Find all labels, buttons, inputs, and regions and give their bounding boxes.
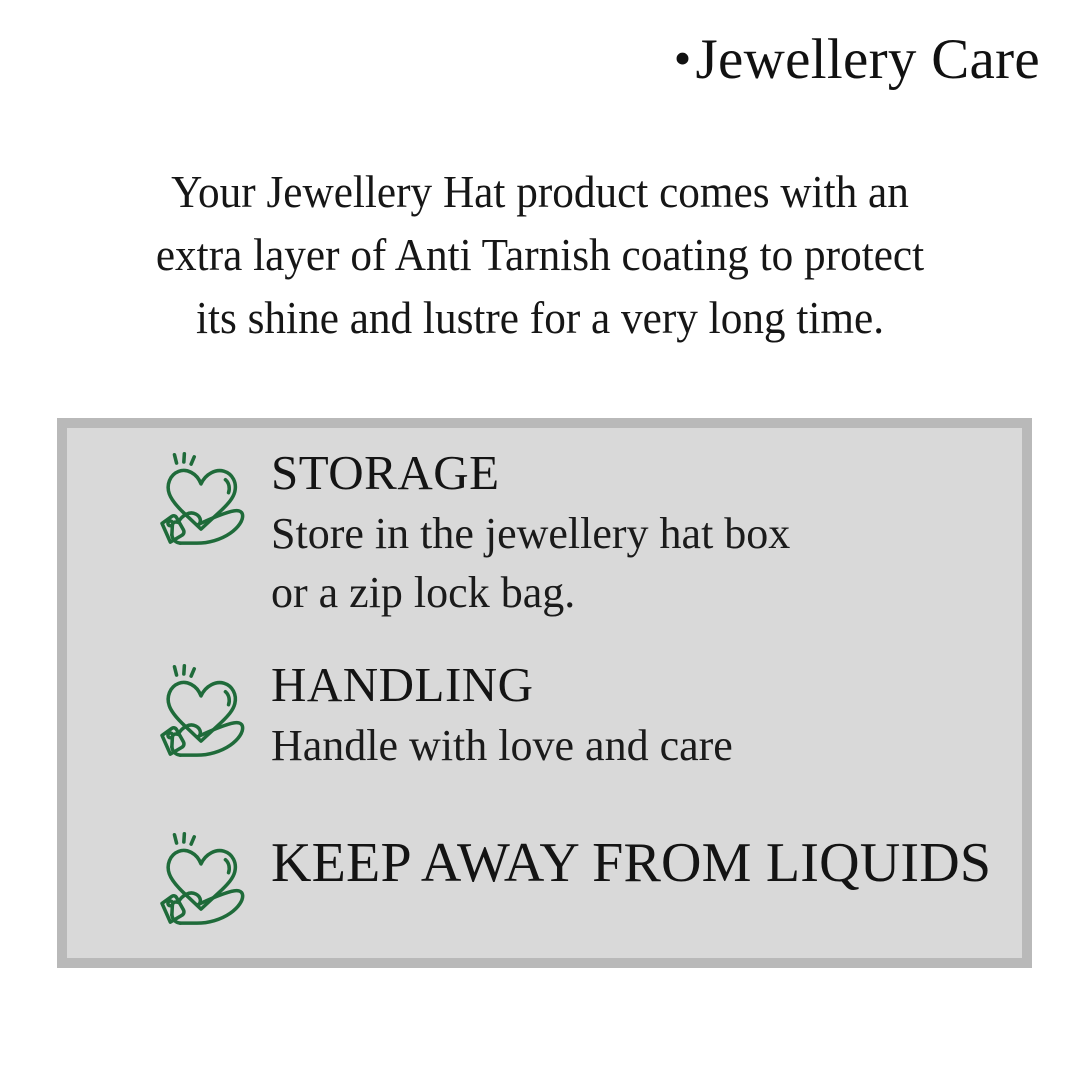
care-text-handling: HANDLING Handle with love and care — [271, 656, 733, 775]
care-text-storage: STORAGE Store in the jewellery hat box o… — [271, 444, 790, 622]
intro-line-3: its shine and lustre for a very long tim… — [89, 286, 991, 349]
intro-paragraph: Your Jewellery Hat product comes with an… — [89, 160, 991, 349]
care-body-handling: Handle with love and care — [271, 716, 733, 775]
care-instructions-panel: STORAGE Store in the jewellery hat box o… — [57, 418, 1032, 968]
care-body-line: Store in the jewellery hat box — [271, 504, 790, 563]
care-body-line: or a zip lock bag. — [271, 563, 790, 622]
care-rows: STORAGE Store in the jewellery hat box o… — [67, 428, 1022, 958]
heart-in-hand-icon — [149, 448, 253, 552]
heart-in-hand-icon — [149, 660, 253, 764]
intro-line-1: Your Jewellery Hat product comes with an — [89, 160, 991, 223]
care-row-liquids: KEEP AWAY FROM LIQUIDS — [149, 824, 991, 932]
intro-line-2: extra layer of Anti Tarnish coating to p… — [89, 223, 991, 286]
page-title-text: Jewellery Care — [696, 28, 1040, 91]
care-row-storage: STORAGE Store in the jewellery hat box o… — [149, 444, 790, 622]
bullet-icon: • — [674, 30, 696, 86]
care-heading-storage: STORAGE — [271, 445, 500, 500]
care-row-handling: HANDLING Handle with love and care — [149, 656, 733, 775]
jewellery-care-page: •Jewellery Care Your Jewellery Hat produ… — [0, 0, 1080, 1080]
care-body-line: Handle with love and care — [271, 716, 733, 775]
care-heading-liquids: KEEP AWAY FROM LIQUIDS — [271, 832, 991, 894]
care-text-liquids: KEEP AWAY FROM LIQUIDS — [271, 824, 991, 894]
page-title-row: •Jewellery Care — [0, 26, 1040, 94]
page-title: •Jewellery Care — [674, 26, 1040, 94]
heart-in-hand-icon — [149, 828, 253, 932]
care-heading-handling: HANDLING — [271, 657, 534, 712]
care-body-storage: Store in the jewellery hat box or a zip … — [271, 504, 790, 622]
